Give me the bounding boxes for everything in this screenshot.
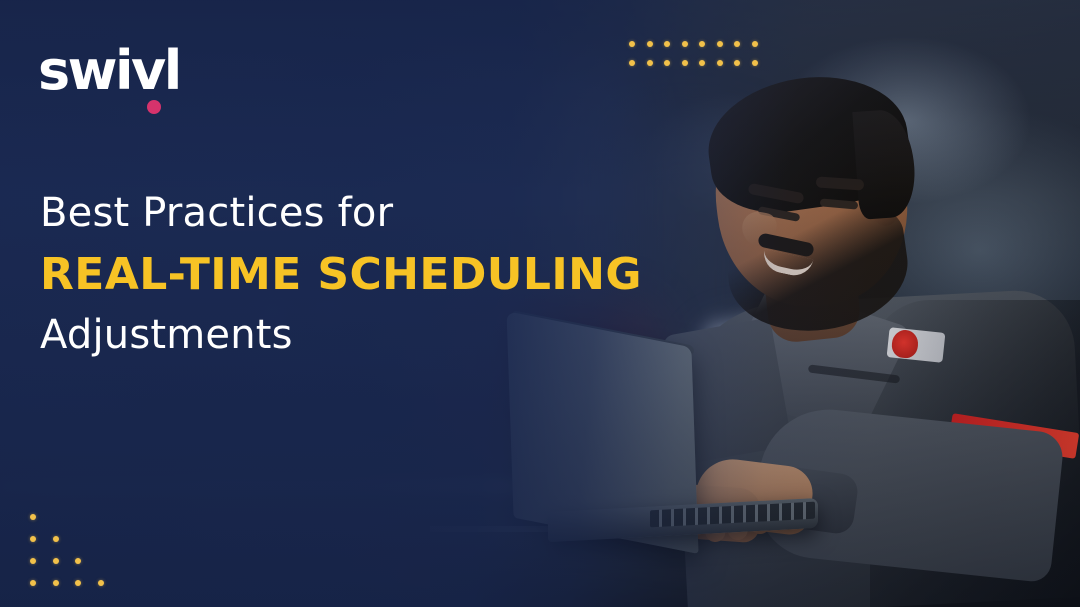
logo-dot-icon (147, 100, 161, 114)
decorative-dot (699, 41, 705, 47)
headline-line-1: Best Practices for (40, 188, 680, 239)
logo-wordmark: swivl (38, 44, 180, 98)
blog-banner: swivl Best Practices for REAL-TIME SCHED… (0, 0, 1080, 607)
decorative-dot (682, 41, 688, 47)
decorative-dot (699, 60, 705, 66)
decorative-dot (717, 60, 723, 66)
decorative-dot (98, 580, 104, 586)
decorative-dot (30, 514, 36, 520)
decorative-dot (53, 580, 59, 586)
decorative-dot (629, 41, 635, 47)
decorative-dot (734, 41, 740, 47)
decorative-dot (682, 60, 688, 66)
decorative-dot (629, 60, 635, 66)
headline-block: Best Practices for REAL-TIME SCHEDULING … (40, 188, 680, 361)
decorative-dot (752, 41, 758, 47)
decorative-dot (647, 41, 653, 47)
decorative-dot (647, 60, 653, 66)
swivl-logo[interactable]: swivl (38, 44, 180, 98)
headline-line-3: Adjustments (40, 310, 680, 361)
dot-grid-top-right (629, 41, 769, 71)
headline-line-2: REAL-TIME SCHEDULING (40, 247, 680, 303)
decorative-dot (30, 558, 36, 564)
decorative-dot (664, 41, 670, 47)
decorative-dot (664, 60, 670, 66)
decorative-dot (53, 536, 59, 542)
decorative-dot (75, 580, 81, 586)
decorative-dot (53, 558, 59, 564)
decorative-dot (752, 60, 758, 66)
decorative-dot (717, 41, 723, 47)
decorative-dot (30, 536, 36, 542)
decorative-dot (734, 60, 740, 66)
decorative-dot (75, 558, 81, 564)
dot-grid-bottom-left (30, 514, 140, 596)
decorative-dot (30, 580, 36, 586)
